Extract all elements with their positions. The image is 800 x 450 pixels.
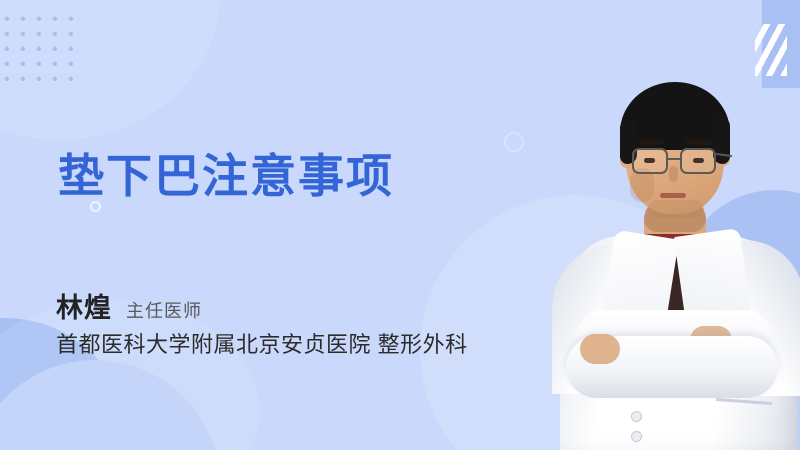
background-wash-top-left: [0, 0, 220, 140]
doctor-name: 林煌: [56, 286, 112, 325]
glasses-lens-right: [680, 148, 716, 174]
coat-button-upper: [632, 412, 641, 421]
doctor-affiliation: 首都医科大学附属北京安贞医院 整形外科: [56, 327, 468, 359]
doctor-rank: 主任医师: [126, 297, 202, 323]
doctor-portrait: [540, 48, 800, 450]
dot-grid-icon: [4, 16, 80, 92]
ring-outline-icon-large: [504, 132, 524, 152]
background-circle-bottom-left-light: [0, 360, 220, 450]
chin-shadow: [648, 200, 704, 218]
mouth: [660, 193, 686, 198]
glasses-lens-left: [632, 148, 668, 174]
hand-left: [580, 334, 620, 364]
glasses-bridge: [668, 158, 680, 160]
promo-card: 垫下巴注意事项 林煌 主任医师 首都医科大学附属北京安贞医院 整形外科: [0, 0, 800, 450]
coat-button-lower: [632, 432, 641, 441]
page-title: 垫下巴注意事项: [58, 140, 394, 206]
nose: [669, 166, 678, 182]
doctor-identity: 林煌 主任医师: [56, 286, 202, 325]
